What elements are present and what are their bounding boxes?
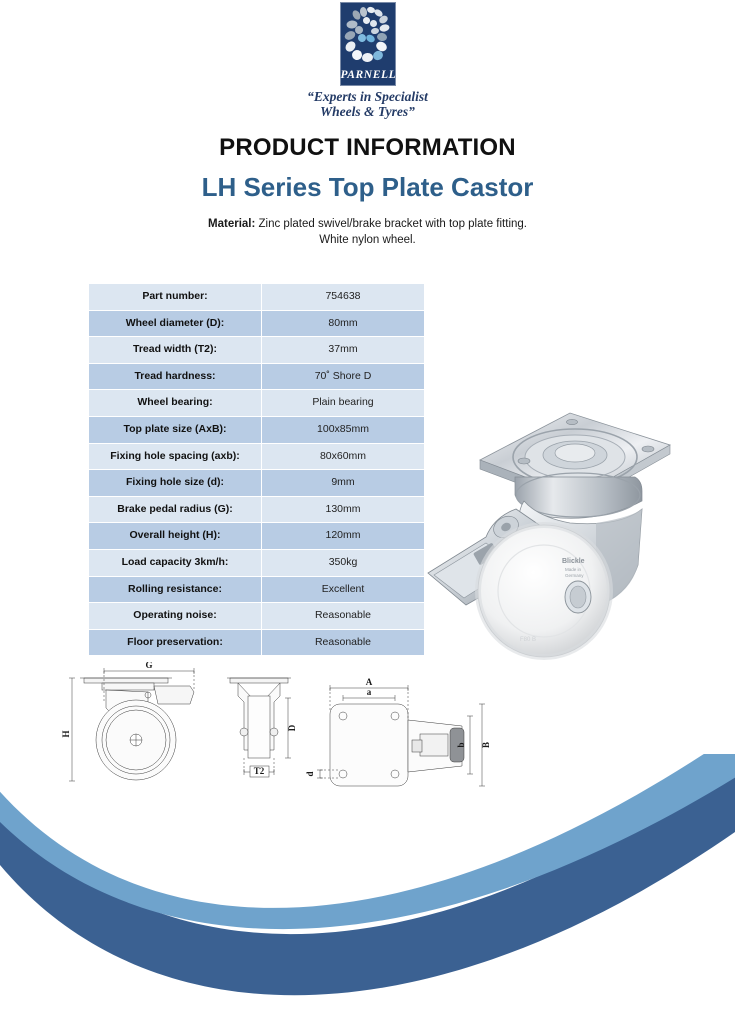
spec-key: Rolling resistance: [89,576,262,603]
spec-value: Reasonable [262,629,425,656]
spec-value: 754638 [262,284,425,311]
axle-nut-face [570,586,586,608]
origin-mark: Germany [565,573,584,578]
page-title: LH Series Top Plate Castor [0,172,735,203]
side-swivel-head [102,683,154,690]
specification-table: Part number:754638Wheel diameter (D):80m… [88,283,425,656]
material-line-2: White nylon wheel. [0,232,735,248]
tagline-line-1: “Experts in Specialist [0,89,735,104]
spec-value: Plain bearing [262,390,425,417]
logo-blob [376,32,387,42]
spec-key: Fixing hole spacing (axb): [89,443,262,470]
table-row: Part number:754638 [89,284,425,311]
top-brake-body [420,734,448,756]
table-row: Wheel diameter (D):80mm [89,310,425,337]
spec-value: 37mm [262,337,425,364]
dim-label-H: H [62,730,71,737]
fixing-hole [518,458,530,464]
footer-swoosh-decoration [0,754,735,1024]
spec-key: Overall height (H): [89,523,262,550]
spec-key: Operating noise: [89,603,262,630]
dim-label-G: G [145,662,152,670]
dim-label-b: b [456,742,466,747]
dim-label-a: a [367,687,372,697]
spec-value: 70˚ Shore D [262,363,425,390]
fixing-hole [642,446,654,452]
logo-blob [361,53,373,63]
origin-mark: Made in [565,567,582,572]
spec-value: Excellent [262,576,425,603]
brand-tagline: “Experts in Specialist Wheels & Tyres” [0,89,735,119]
tagline-line-2: Wheels & Tyres” [0,104,735,119]
brand-logo-block: PARNELLS “Experts in Specialist Wheels &… [0,2,735,119]
table-row: Fixing hole size (d):9mm [89,470,425,497]
spec-key: Brake pedal radius (G): [89,496,262,523]
table-row: Tread hardness:70˚ Shore D [89,363,425,390]
dim-label-B: B [481,742,491,748]
side-top-plate [84,678,168,683]
specification-table-body: Part number:754638Wheel diameter (D):80m… [89,284,425,656]
spec-key: Wheel diameter (D): [89,310,262,337]
logo-blob [378,23,389,32]
logo-blob-inner [356,33,366,43]
wheel-mark: F80 B [520,637,536,643]
spec-key: Top plate size (AxB): [89,416,262,443]
top-brake-shaft [412,740,422,752]
logo-wordmark: PARNELLS [341,69,395,81]
table-row: Floor preservation:Reasonable [89,629,425,656]
front-axle-left [240,728,248,736]
spec-key: Tread width (T2): [89,337,262,364]
table-row: Operating noise:Reasonable [89,603,425,630]
spec-value: Reasonable [262,603,425,630]
spec-value: 9mm [262,470,425,497]
table-row: Rolling resistance:Excellent [89,576,425,603]
front-wheel [248,696,270,758]
material-description: Material: Zinc plated swivel/brake brack… [0,216,735,248]
spec-value: 80mm [262,310,425,337]
spec-key: Part number: [89,284,262,311]
table-row: Top plate size (AxB):100x85mm [89,416,425,443]
spec-key: Floor preservation: [89,629,262,656]
parnells-logo-mark: PARNELLS [340,2,396,86]
side-brake-arm [154,686,194,704]
spec-value: 350kg [262,549,425,576]
product-photo-castor: Blickle Made in Germany F80 B [420,405,680,660]
spec-key: Load capacity 3km/h: [89,549,262,576]
table-row: Wheel bearing:Plain bearing [89,390,425,417]
product-information-heading: PRODUCT INFORMATION [0,134,735,162]
swivel-cap [555,444,595,462]
dim-label-D: D [287,724,297,731]
dim-label-A: A [366,677,373,687]
spec-value: 100x85mm [262,416,425,443]
manufacturer-mark: Blickle [562,558,585,565]
table-row: Overall height (H):120mm [89,523,425,550]
spec-key: Fixing hole size (d): [89,470,262,497]
front-axle-right [270,728,278,736]
spec-key: Tread hardness: [89,363,262,390]
front-top-plate [230,678,288,683]
fixing-hole [567,419,578,424]
spec-value: 80x60mm [262,443,425,470]
spec-key: Wheel bearing: [89,390,262,417]
spec-value: 120mm [262,523,425,550]
material-text-1: Zinc plated swivel/brake bracket with to… [259,218,527,230]
material-line-1: Material: Zinc plated swivel/brake brack… [0,216,735,232]
table-row: Brake pedal radius (G):130mm [89,496,425,523]
table-row: Fixing hole spacing (axb):80x60mm [89,443,425,470]
spec-value: 130mm [262,496,425,523]
material-label: Material: [208,218,255,230]
table-row: Load capacity 3km/h:350kg [89,549,425,576]
table-row: Tread width (T2):37mm [89,337,425,364]
